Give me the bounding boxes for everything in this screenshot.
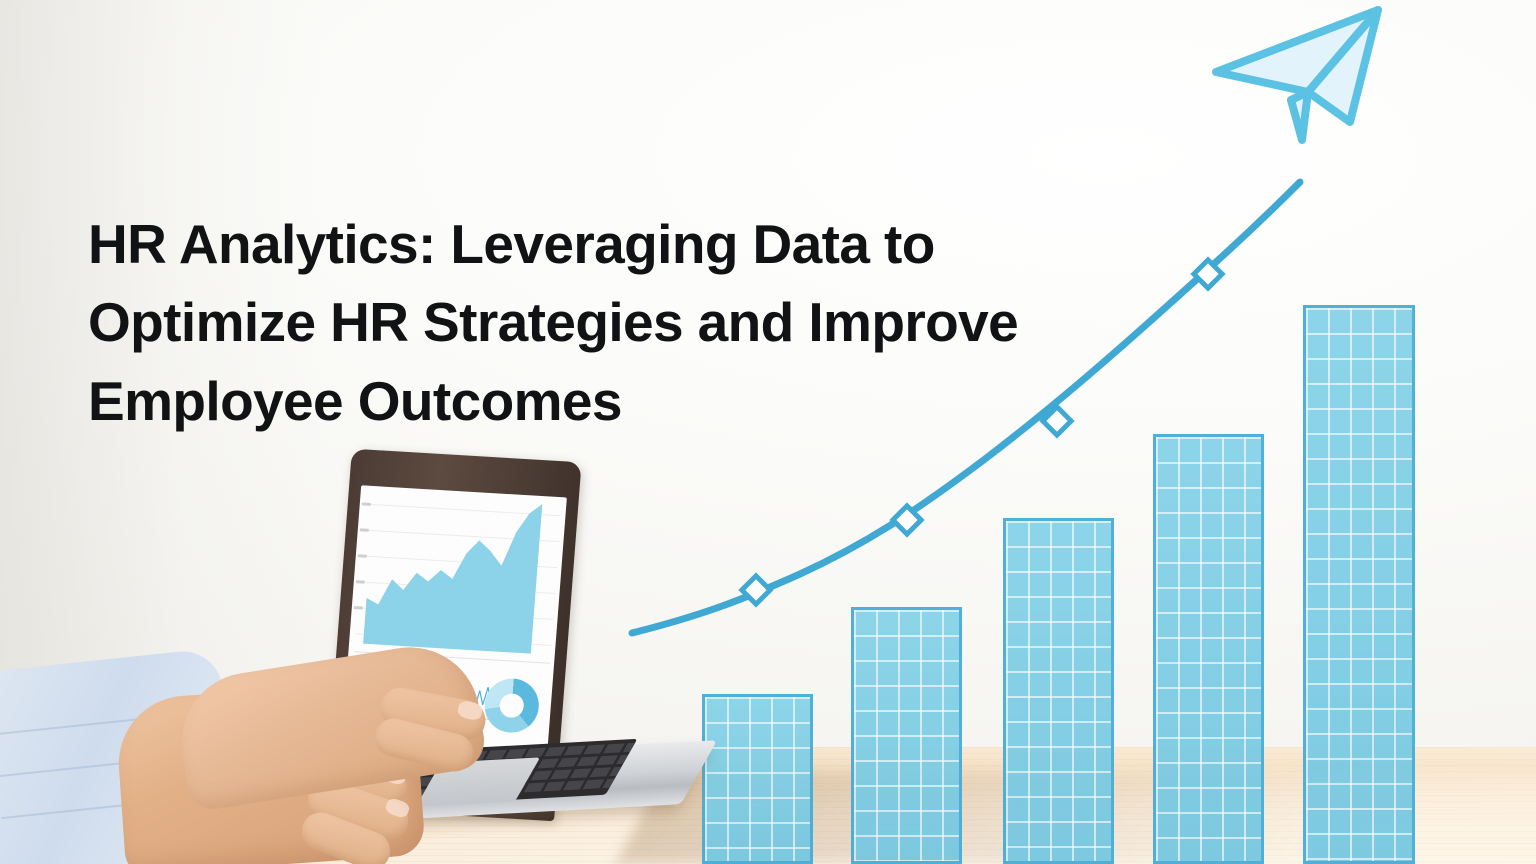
page-title: HR Analytics: Leveraging Data to Optimiz… — [88, 205, 1118, 441]
chart-bar-5 — [1303, 305, 1415, 864]
chart-bar-3 — [1003, 518, 1114, 864]
poster-canvas: HR Analytics: Leveraging Data to Optimiz… — [0, 0, 1536, 864]
chart-bar-2 — [851, 607, 962, 864]
screen-area-chart — [349, 485, 567, 657]
paper-plane-icon — [1190, 0, 1420, 160]
chart-bar-4 — [1153, 434, 1264, 864]
